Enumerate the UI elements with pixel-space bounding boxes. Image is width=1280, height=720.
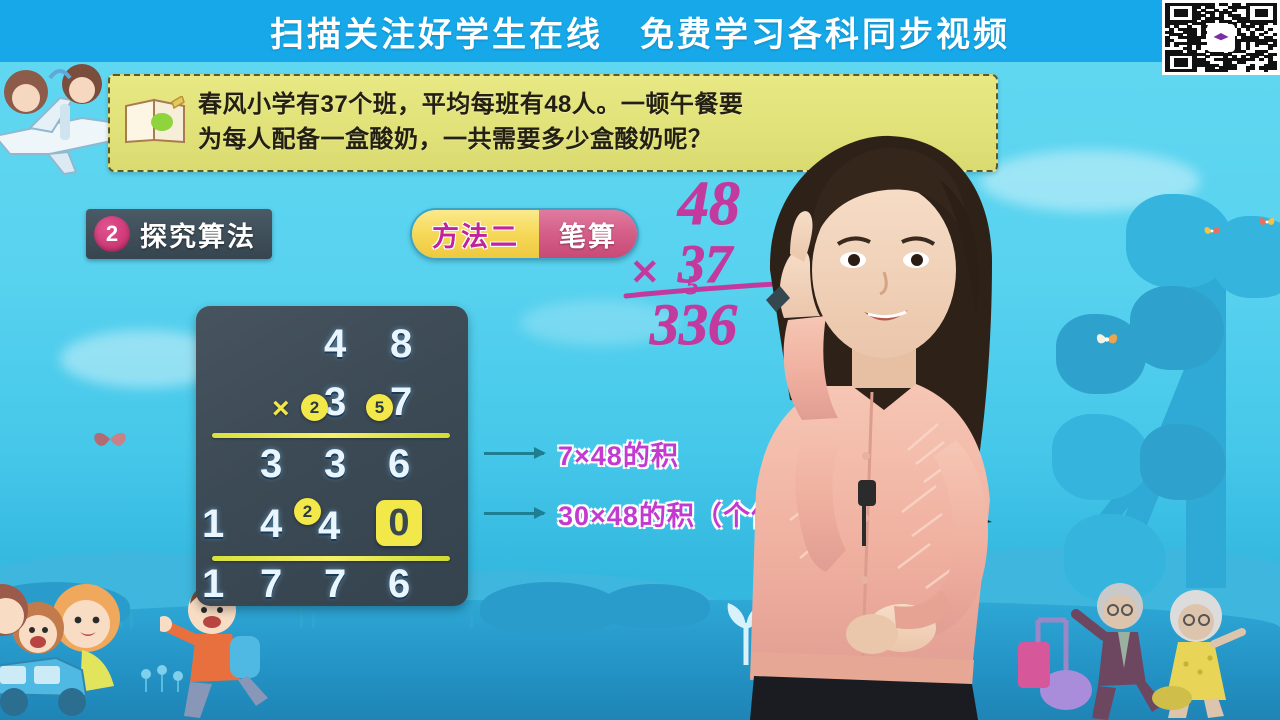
butterfly-icon [1203,224,1221,238]
calc-digit: 8 [390,322,412,367]
promo-banner-text: 扫描关注好学生在线 免费学习各科同步视频 [270,7,1010,56]
calc-carry-mark: 5 [366,394,393,421]
mic-icon [858,480,876,506]
butterfly-icon [92,425,128,453]
calc-digit: 1 [202,562,224,607]
calc-digit: 4 [260,502,282,547]
calc-digit: 7 [260,562,282,607]
butterfly-icon [1258,215,1276,229]
book-icon [124,96,186,150]
calc-highlighted-zero: 0 [376,500,422,546]
video-frame: 扫描关注好学生在线 免费学习各科同步视频 春风小学有37个班，平均每班有48人。… [0,0,1280,720]
calc-carry-mark: 2 [301,394,328,421]
section-title-chip: 2 探究算法 [86,209,272,259]
calc-digit: 7 [324,562,346,607]
calc-carry-mark: 2 [294,498,321,525]
calc-digit: 7 [390,380,412,425]
qr-logo-icon [1207,24,1235,52]
arrow-right-icon [484,452,544,455]
method-name: 方法二 [412,210,539,258]
qr-code[interactable] [1162,0,1280,75]
problem-line-1: 春风小学有37个班，平均每班有48人。一顿午餐要 [198,88,743,123]
calc-digit: 6 [388,562,410,607]
section-title-label: 探究算法 [140,215,256,254]
calc-row-partial-1: 3 3 6 [196,442,468,494]
calc-divider-line [212,556,450,561]
method-type-label: 笔算 [559,215,617,254]
calc-digit: 3 [260,442,282,487]
calc-row-total: 1 7 7 6 [196,562,468,614]
arrow-right-icon [484,512,544,515]
calc-digit: 4 [324,322,346,367]
promo-banner: 扫描关注好学生在线 免费学习各科同步视频 [0,0,1280,62]
calc-divider-line [212,433,450,438]
calc-digit: 3 [324,442,346,487]
butterfly-icon [1095,330,1119,349]
calc-digit: 1 [202,502,224,547]
right-hand [846,614,898,654]
calc-row-partial-2: 1 4 2 4 0 [196,502,468,554]
method-name-label: 方法二 [432,215,519,254]
multiply-operator: × [272,392,290,426]
calc-row-multiplicand: 4 8 [196,322,468,374]
presenter [640,120,1070,720]
section-number-badge: 2 [94,216,130,252]
calc-digit: 6 [388,442,410,487]
calc-row-multiplier: × 2 3 5 7 [196,384,468,436]
vertical-calculation-board: 4 8 × 2 3 5 7 3 3 6 1 4 2 4 0 1 [196,306,468,606]
calc-digit: 4 [318,504,340,549]
method-pill: 方法二 笔算 [410,208,639,260]
